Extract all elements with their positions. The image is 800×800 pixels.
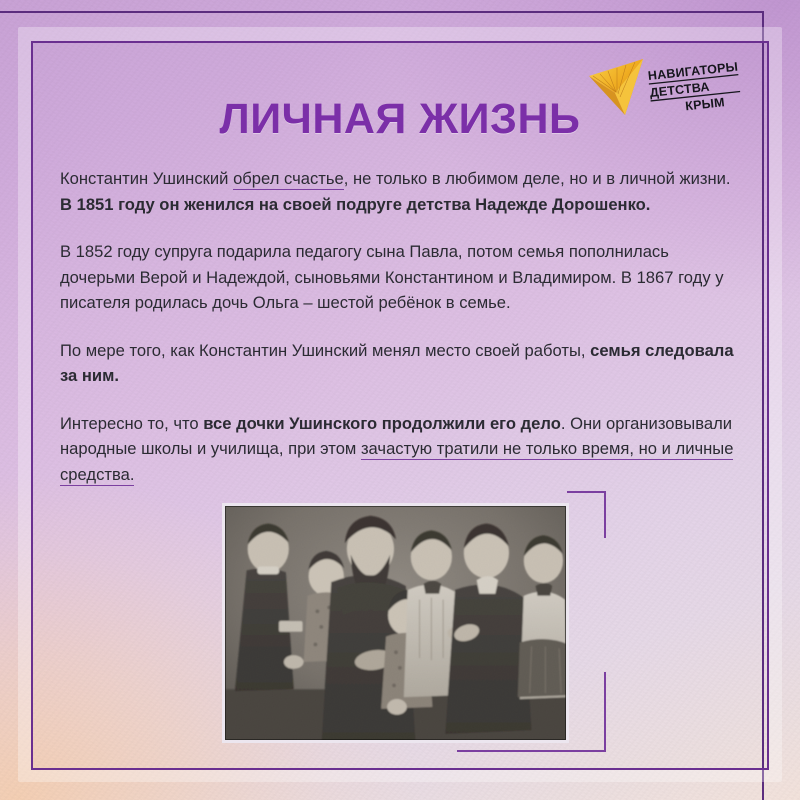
- corner-bracket-bottom-right-icon: [457, 672, 606, 752]
- paragraph: Интересно то, что все дочки Ушинского пр…: [60, 411, 736, 488]
- corner-bracket-top-right-icon: [567, 491, 606, 538]
- text-run: , не только в любимом деле, но и в лично…: [344, 169, 731, 188]
- slide-content: НАВИГАТОРЫ ДЕТСТВА КРЫМ ЛИЧНАЯ ЖИЗНЬ Кон…: [31, 41, 769, 770]
- article-body: Константин Ушинский обрел счастье, не то…: [60, 166, 736, 487]
- paragraph: По мере того, как Константин Ушинский ме…: [60, 338, 736, 389]
- emphasis-underline: обрел счастье: [233, 169, 344, 190]
- page-title: ЛИЧНАЯ ЖИЗНЬ: [31, 95, 769, 144]
- outer-rule-top: [0, 11, 764, 13]
- emphasis-bold: В 1851 году он женился на своей подруге …: [60, 195, 650, 214]
- text-run: Константин Ушинский: [60, 169, 233, 188]
- text-run: Интересно то, что: [60, 414, 203, 433]
- paragraph: В 1852 году супруга подарила педагогу сы…: [60, 239, 736, 316]
- text-run: В 1852 году супруга подарила педагогу сы…: [60, 242, 724, 312]
- emphasis-bold: все дочки Ушинского продолжили его дело: [203, 414, 561, 433]
- paragraph: Константин Ушинский обрел счастье, не то…: [60, 166, 736, 217]
- text-run: По мере того, как Константин Ушинский ме…: [60, 341, 590, 360]
